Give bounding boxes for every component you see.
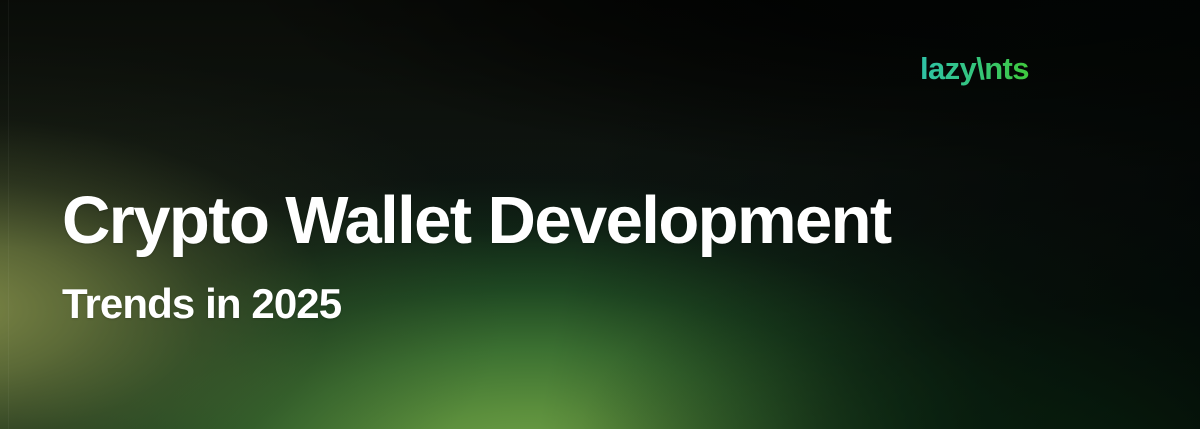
hero-banner: lazy\nts Crypto Wallet Development Trend…	[0, 0, 1200, 429]
lazyants-logo[interactable]: lazy\nts	[920, 50, 1070, 90]
page-subtitle: Trends in 2025	[62, 282, 1112, 326]
headline-block: Crypto Wallet Development Trends in 2025	[62, 186, 1112, 326]
lazyants-logo-icon: lazy\nts	[920, 50, 1070, 90]
lazyants-logo-text: lazy\nts	[920, 51, 1029, 86]
page-title: Crypto Wallet Development	[62, 186, 1112, 256]
background-seam-artifact	[8, 0, 9, 429]
